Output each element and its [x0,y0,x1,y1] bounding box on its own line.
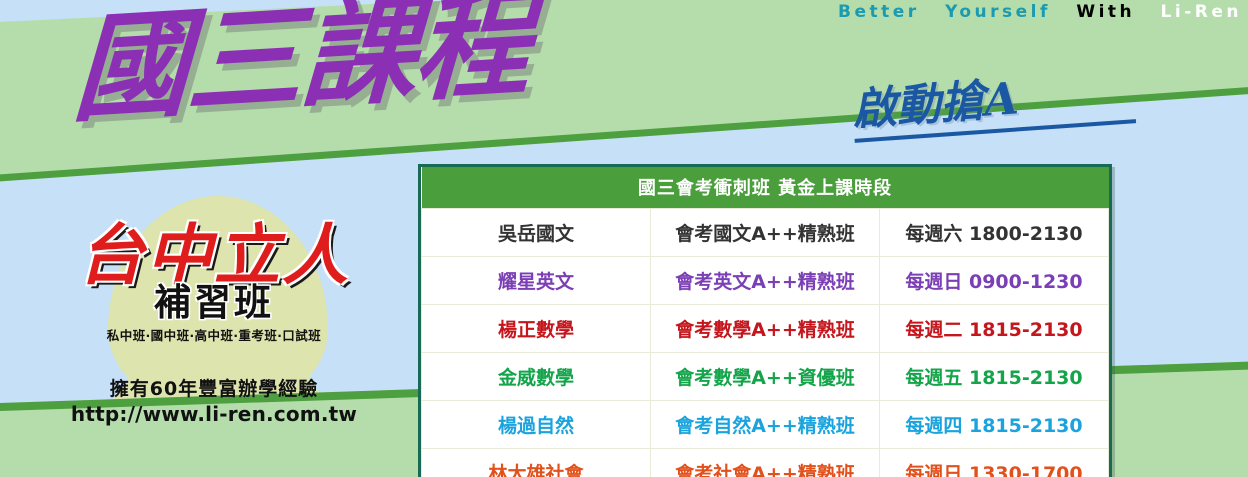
cell-course: 會考社會A++精熟班 [651,449,880,477]
cell-time: 每週日 0900-1230 [880,257,1109,305]
logo-class-list: 私中班‧國中班‧高中班‧重考班‧口試班 [34,325,394,344]
page-title: 國三課程 [70,0,531,132]
cell-teacher: 林大雄社會 [422,449,651,477]
table-row: 金威數學會考數學A++資優班每週五 1815-2130 [422,353,1109,401]
tagline-word-liren: Li-Ren [1161,2,1242,22]
table-row: 楊過自然會考自然A++精熟班每週四 1815-2130 [422,401,1109,449]
cell-time: 每週二 1815-2130 [880,305,1109,353]
table-row: 吳岳國文會考國文A++精熟班每週六 1800-2130 [422,209,1109,257]
cell-teacher: 楊過自然 [422,401,651,449]
table-row: 林大雄社會會考社會A++精熟班每週日 1330-1700 [422,449,1109,477]
cell-teacher: 金威數學 [422,353,651,401]
tagline: Better Yourself With Li-Ren [838,2,1242,22]
cell-course: 會考英文A++精熟班 [651,257,880,305]
schedule-table-title: 國三會考衝刺班 黃金上課時段 [422,167,1109,209]
promotional-banner: Better Yourself With Li-Ren 國三課程 啟動搶A 台中… [0,0,1248,477]
tagline-word-better: Better [838,2,920,22]
table-row: 楊正數學會考數學A++精熟班每週二 1815-2130 [422,305,1109,353]
cell-course: 會考自然A++精熟班 [651,401,880,449]
cell-teacher: 耀星英文 [422,257,651,305]
cell-time: 每週六 1800-2130 [880,209,1109,257]
table-header-row: 國三會考衝刺班 黃金上課時段 [422,167,1109,209]
schedule-table-container: 國三會考衝刺班 黃金上課時段 吳岳國文會考國文A++精熟班每週六 1800-21… [418,164,1112,477]
schedule-table-body: 吳岳國文會考國文A++精熟班每週六 1800-2130耀星英文會考英文A++精熟… [422,209,1109,477]
website-url[interactable]: http://www.li-ren.com.tw [34,402,394,426]
footer-info: 擁有60年豐富辦學經驗 http://www.li-ren.com.tw [34,374,394,426]
schedule-table: 國三會考衝刺班 黃金上課時段 吳岳國文會考國文A++精熟班每週六 1800-21… [421,167,1109,477]
cell-teacher: 吳岳國文 [422,209,651,257]
table-row: 耀星英文會考英文A++精熟班每週日 0900-1230 [422,257,1109,305]
experience-text: 擁有60年豐富辦學經驗 [34,374,394,401]
cell-course: 會考數學A++資優班 [651,353,880,401]
cell-course: 會考數學A++精熟班 [651,305,880,353]
brand-logo: 台中立人 補習班 私中班‧國中班‧高中班‧重考班‧口試班 [34,222,394,344]
cell-time: 每週日 1330-1700 [880,449,1109,477]
schedule-table-head: 國三會考衝刺班 黃金上課時段 [422,167,1109,209]
cell-course: 會考國文A++精熟班 [651,209,880,257]
tagline-word-yourself: Yourself [945,2,1051,22]
logo-name: 台中立人 [34,222,394,288]
cell-teacher: 楊正數學 [422,305,651,353]
tagline-word-with: With [1076,2,1135,22]
cell-time: 每週四 1815-2130 [880,401,1109,449]
cell-time: 每週五 1815-2130 [880,353,1109,401]
